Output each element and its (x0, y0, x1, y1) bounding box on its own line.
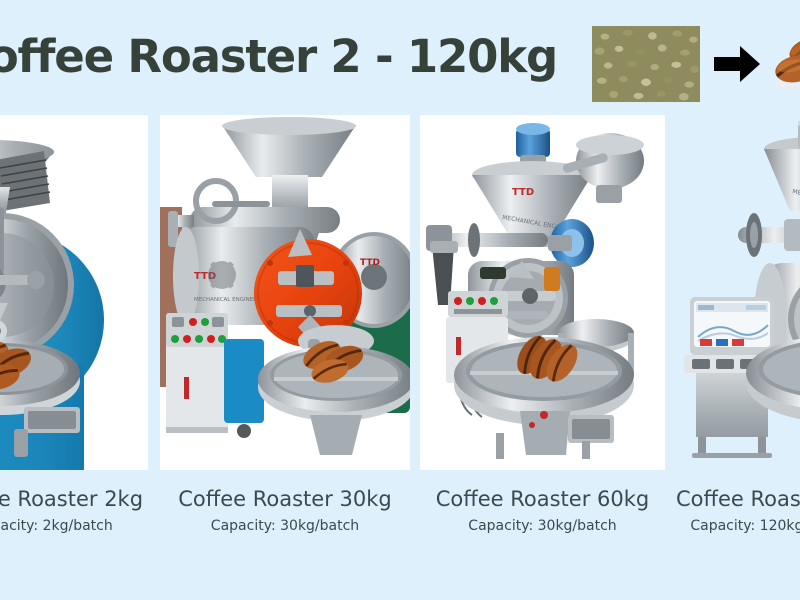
product-name-4: Coffee Roaster 120kg (676, 487, 800, 511)
process-arrow-icon (714, 44, 760, 84)
roaster-30kg-photo: TTD TTD (160, 115, 410, 470)
svg-text:TTD: TTD (360, 258, 380, 268)
product-card-3[interactable]: TTD MECHANICAL ENGINEERING (420, 115, 665, 470)
product-caption-3: Coffee Roaster 60kg Capacity: 30kg/batch (420, 487, 665, 534)
product-name-3: Coffee Roaster 60kg (420, 487, 665, 511)
product-capacity-1: Capacity: 2kg/batch (0, 518, 148, 534)
product-name-1: Coffee Roaster 2kg (0, 487, 148, 511)
roasted-coffee-beans-image (770, 33, 800, 95)
slide-canvas: Coffee Roaster 2 - 120kg (0, 0, 800, 600)
svg-text:TTD: TTD (512, 187, 534, 198)
product-caption-1: Coffee Roaster 2kg Capacity: 2kg/batch (0, 487, 148, 534)
product-capacity-2: Capacity: 30kg/batch (160, 518, 410, 534)
roaster-2kg-photo (0, 115, 148, 470)
product-caption-4: Coffee Roaster 120kg Capacity: 120kg/bat… (676, 487, 800, 534)
roaster-120kg-photo: TTD MECHANICAL ENG (676, 115, 800, 470)
product-capacity-3: Capacity: 30kg/batch (420, 518, 665, 534)
product-capacity-4: Capacity: 120kg/batch (676, 518, 800, 534)
product-caption-2: Coffee Roaster 30kg Capacity: 30kg/batch (160, 487, 410, 534)
product-card-4[interactable]: TTD MECHANICAL ENG (676, 115, 800, 470)
roasting-process-graphic (592, 24, 792, 104)
green-coffee-beans-image (592, 26, 700, 102)
product-card-1[interactable] (0, 115, 148, 470)
page-title: Coffee Roaster 2 - 120kg (0, 34, 596, 79)
roaster-60kg-photo: TTD MECHANICAL ENGINEERING (420, 115, 665, 470)
product-name-2: Coffee Roaster 30kg (160, 487, 410, 511)
product-card-2[interactable]: TTD TTD (160, 115, 410, 470)
